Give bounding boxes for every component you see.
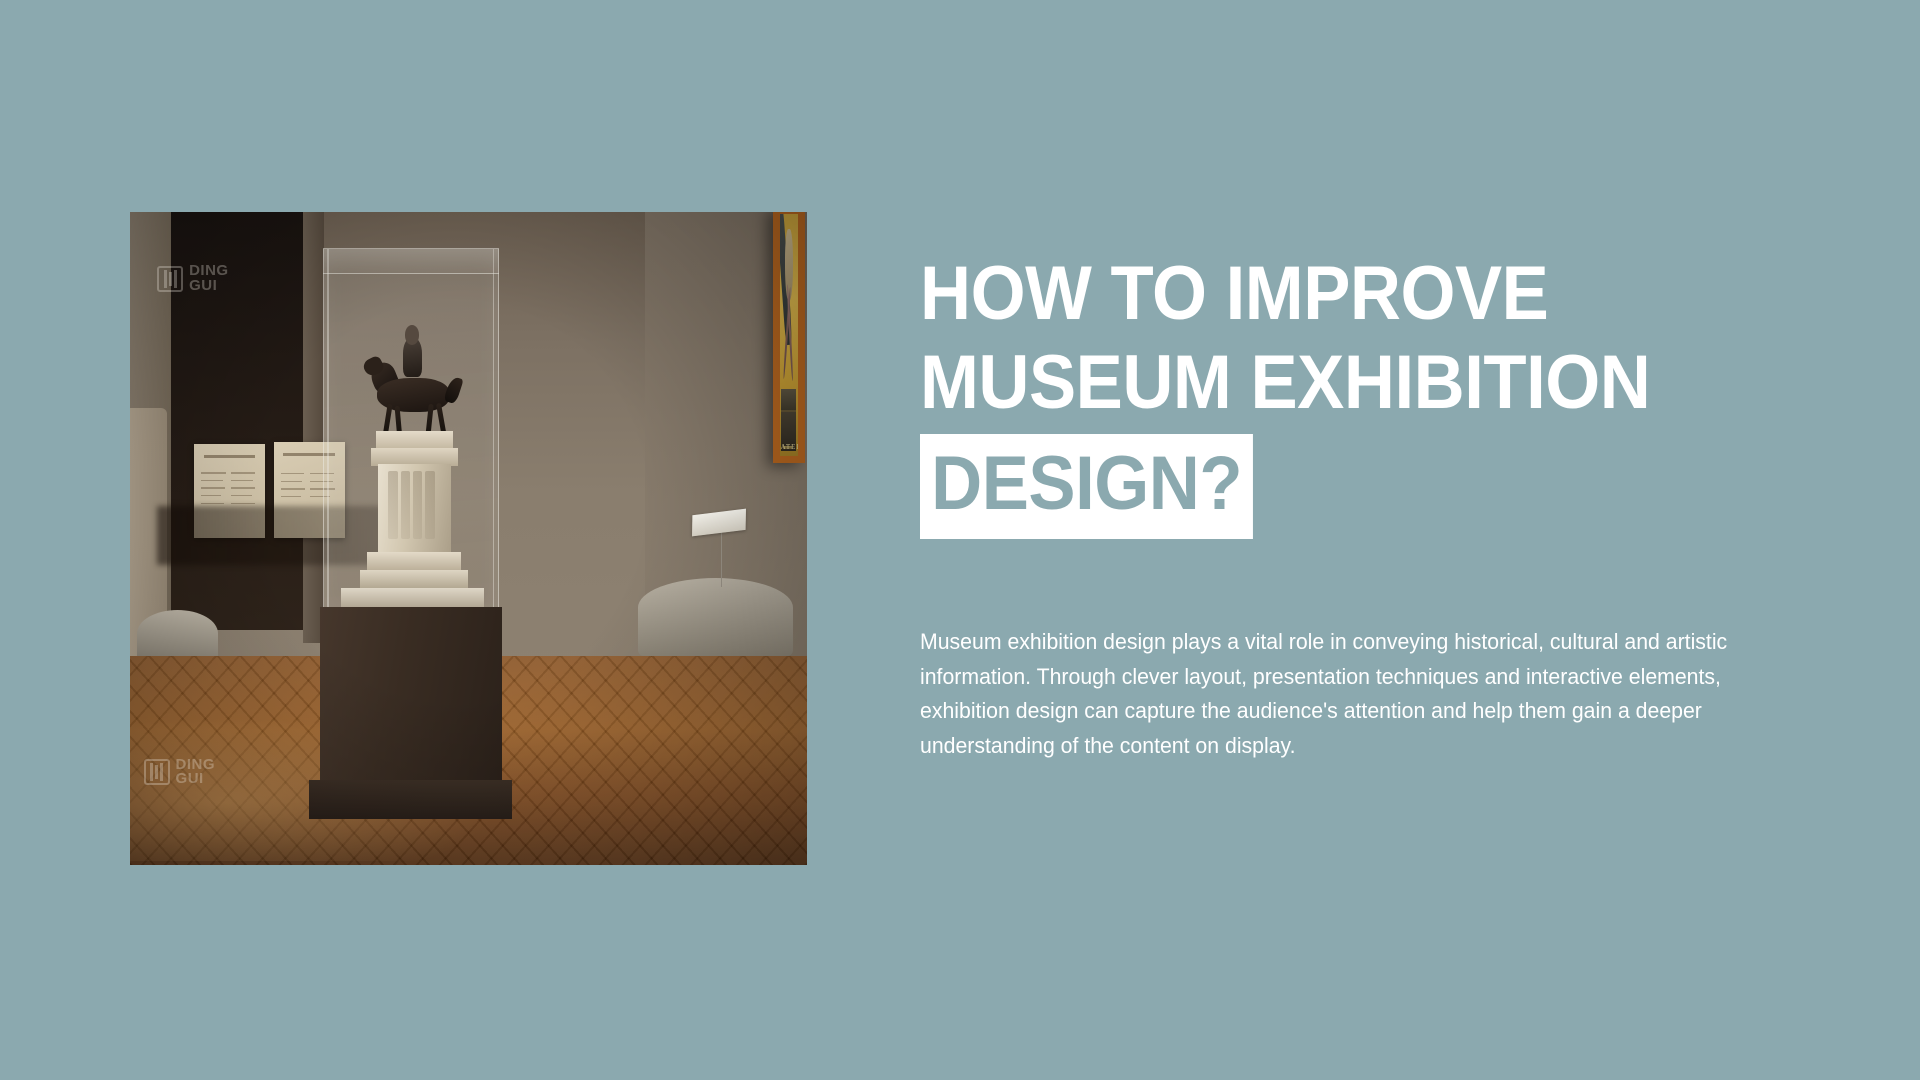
equestrian-statuette <box>366 358 463 435</box>
vitrine-mullion <box>493 249 495 614</box>
gallery-photo: DONATELLO <box>130 212 807 865</box>
panel-text-line <box>281 496 301 498</box>
doorway-jamb <box>303 212 325 643</box>
slide-canvas: DONATELLO <box>0 0 1920 1080</box>
pedestal-base-upper <box>367 552 461 570</box>
photo-scene: DONATELLO <box>130 212 807 865</box>
pedestal-base-lower <box>360 570 468 588</box>
painting-cartouche: DONATELLO <box>783 446 792 449</box>
pedestal-flute <box>413 471 423 539</box>
panel-text-line <box>201 487 224 489</box>
panel-text-line <box>201 480 222 482</box>
vitrine-top-panel <box>323 249 499 275</box>
pedestal-flute <box>388 471 398 539</box>
painting-ledge <box>781 389 796 411</box>
painting-label-text: DONATELLO <box>780 443 798 451</box>
pedestal-flute <box>425 471 435 539</box>
headline-line-3-highlight: DESIGN? <box>920 434 1253 539</box>
panel-text-line <box>201 495 221 497</box>
page-title: HOW TO IMPROVE MUSEUM EXHIBITION DESIGN? <box>920 250 1738 539</box>
panel-text-line <box>281 481 302 483</box>
panel-text-line <box>231 480 253 482</box>
donatello-painting: DONATELLO <box>773 212 805 463</box>
panel-text-line <box>231 472 255 474</box>
panel-text-line <box>231 495 252 497</box>
vitrine-plinth <box>320 607 503 790</box>
panel-text-line <box>201 472 225 474</box>
text-column: HOW TO IMPROVE MUSEUM EXHIBITION DESIGN?… <box>920 250 1800 764</box>
painting-gold-ground: DONATELLO <box>780 214 798 456</box>
headline-line-2: MUSEUM EXHIBITION <box>920 339 1738 428</box>
panel-text-line <box>231 503 254 505</box>
panel-text-line <box>201 503 224 505</box>
panel-text-line <box>231 487 255 489</box>
left-display-plinth <box>137 610 218 662</box>
glass-vitrine <box>323 248 499 614</box>
painting-plinth: DONATELLO <box>781 410 797 451</box>
gallery-doorway <box>171 212 306 630</box>
wall-panel-left-title <box>204 455 255 458</box>
pedestal-shaft <box>378 464 451 552</box>
panel-text-line <box>281 488 305 490</box>
body-paragraph: Museum exhibition design plays a vital r… <box>920 625 1752 765</box>
right-display-plinth <box>638 578 794 656</box>
vitrine-plinth-skirt <box>309 780 512 819</box>
vitrine-mullion <box>327 249 329 614</box>
pedestal-flute <box>401 471 411 539</box>
rider-head <box>405 325 420 345</box>
horse-tail <box>443 375 463 404</box>
headline-line-1: HOW TO IMPROVE <box>920 250 1738 339</box>
panel-text-line <box>281 473 304 475</box>
